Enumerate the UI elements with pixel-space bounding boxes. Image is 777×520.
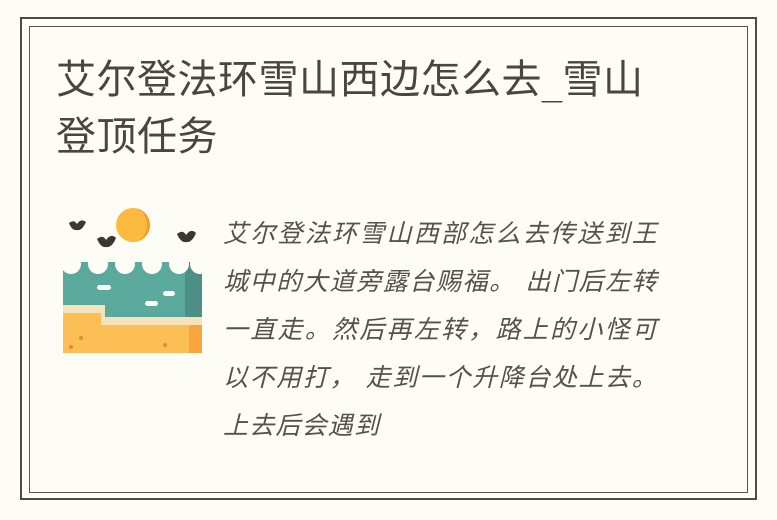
beach-illustration-svg [57,199,208,353]
article-body-text: 艾尔登法环雪山西部怎么去传送到王城中的大道旁露台赐福。 出门后左转一直走。然后再… [223,210,658,450]
page-title: 艾尔登法环雪山西边怎么去_雪山登顶任务 [56,52,676,166]
sun-icon [116,208,150,242]
sand-shadow [189,325,202,353]
beach-illustration [57,199,208,353]
page-canvas: 艾尔登法环雪山西边怎么去_雪山登顶任务 [0,0,777,520]
